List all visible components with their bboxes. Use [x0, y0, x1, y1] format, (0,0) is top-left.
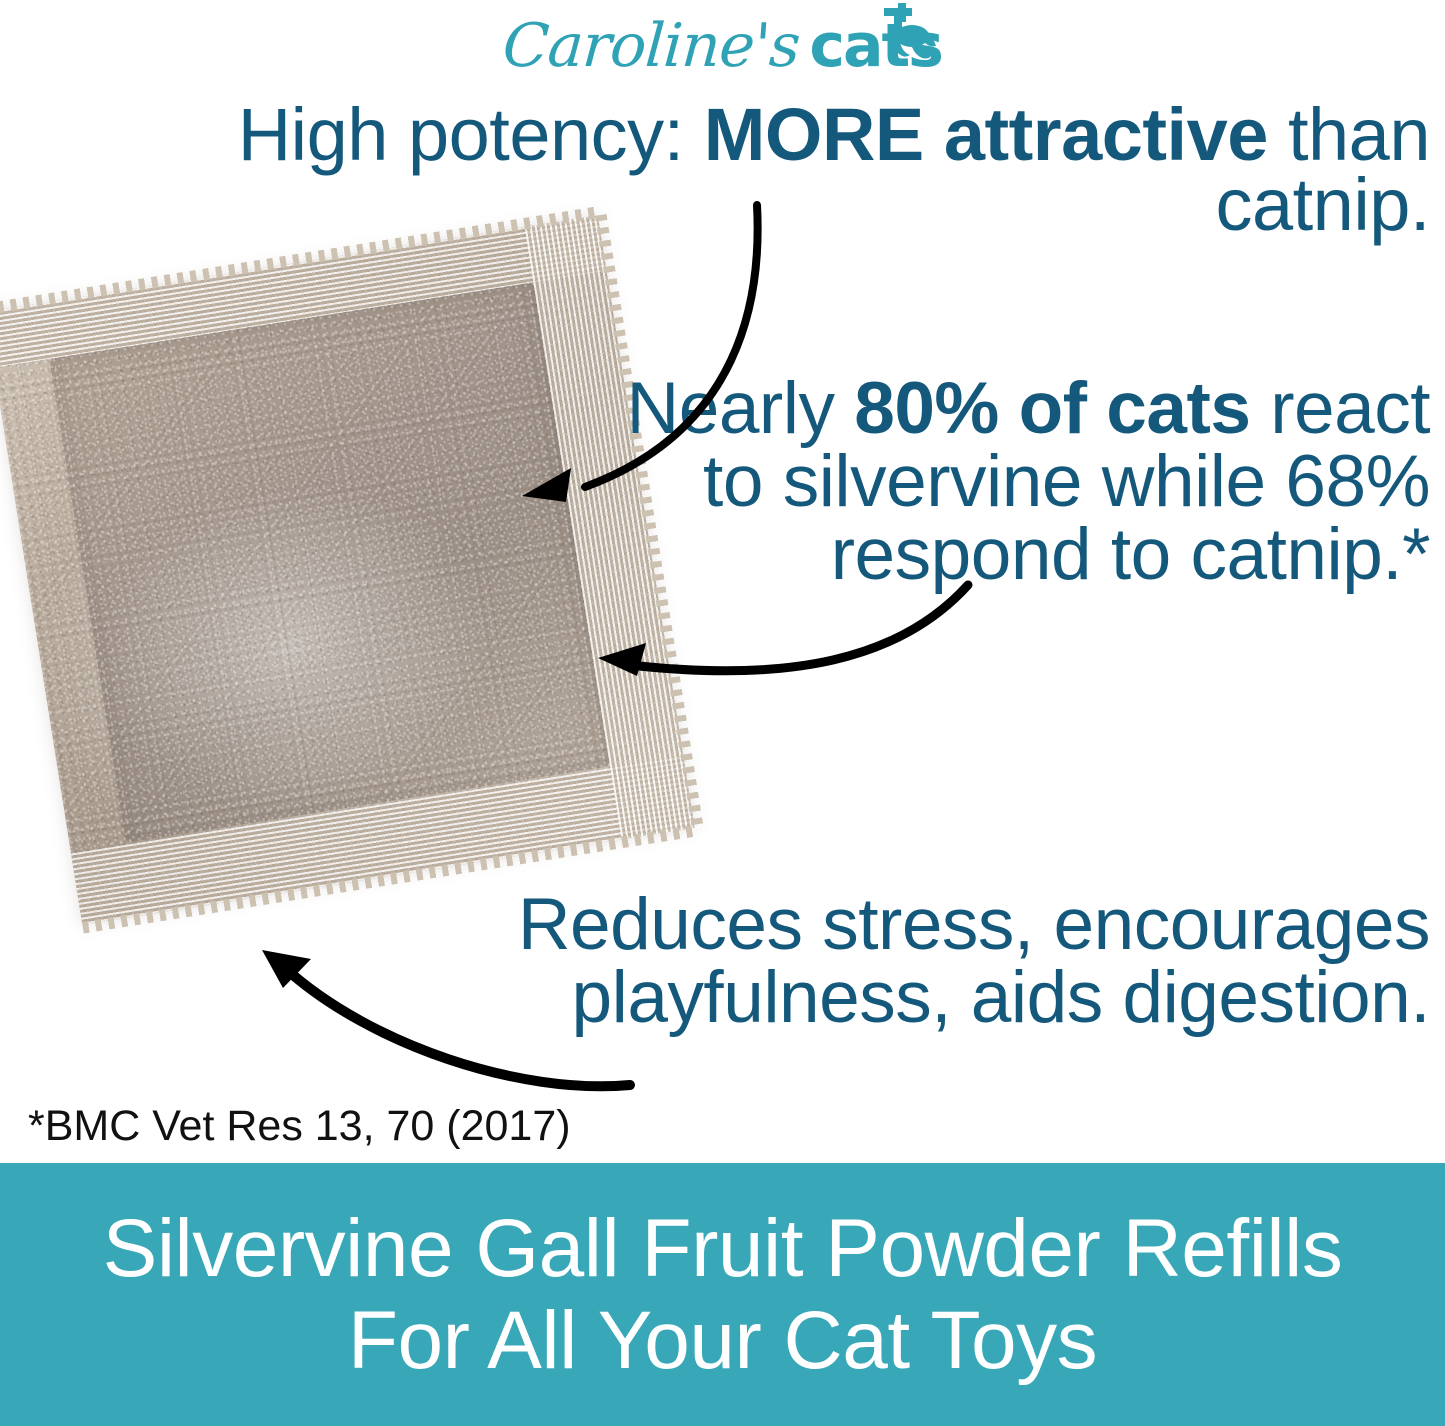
- silvervine-powder-sachet: [0, 215, 695, 924]
- callout-stat-lead: Nearly: [627, 368, 855, 449]
- callout-statistic: Nearly 80% of cats react to silvervine w…: [600, 372, 1430, 591]
- footnote-citation: *BMC Vet Res 13, 70 (2017): [28, 1105, 571, 1148]
- callout-potency: High potency: MORE attractive than catni…: [95, 100, 1430, 241]
- bottom-banner: Silvervine Gall Fruit Powder Refills For…: [0, 1163, 1445, 1426]
- callout-potency-lead: High potency:: [238, 93, 704, 176]
- infographic-page: Caroline's cats: [0, 0, 1445, 1426]
- brand-cats-wrap: cats: [809, 8, 941, 84]
- brand-script-word: Caroline's: [501, 16, 802, 76]
- brand-bold-word: cats: [809, 11, 941, 81]
- banner-line-1: Silvervine Gall Fruit Powder Refills: [103, 1203, 1343, 1295]
- callout-stat-emphasis: 80% of cats: [854, 368, 1250, 449]
- product-photo: [0, 205, 820, 995]
- callout-potency-emphasis: MORE attractive: [704, 93, 1268, 176]
- banner-line-2: For All Your Cat Toys: [348, 1295, 1097, 1387]
- callout-benefits: Reduces stress, encourages playfulness, …: [390, 888, 1430, 1034]
- brand-logo: Caroline's cats: [0, 6, 1445, 86]
